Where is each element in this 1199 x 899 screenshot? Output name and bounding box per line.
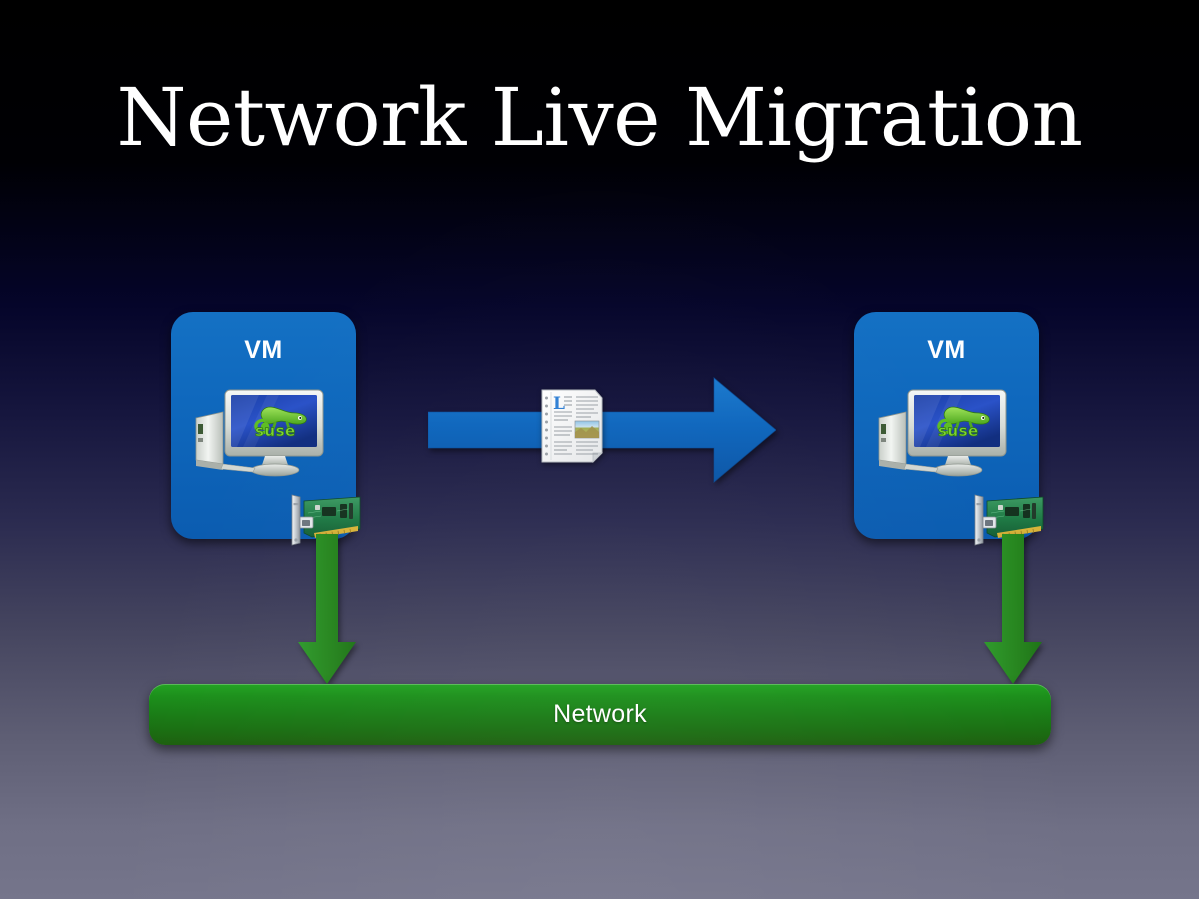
page-title: Network Live Migration: [0, 78, 1199, 158]
down-arrow-icon: [982, 534, 1044, 684]
document-icon: L: [541, 389, 603, 463]
vm-label: VM: [854, 336, 1039, 365]
suse-monitor-icon: suse: [876, 382, 1016, 478]
svg-text:L: L: [553, 394, 565, 414]
svg-text:suse: suse: [938, 422, 979, 440]
network-label: Network: [553, 700, 647, 729]
svg-text:suse: suse: [255, 422, 296, 440]
vm-box-destination[interactable]: VM suse: [854, 312, 1039, 539]
vm-box-source[interactable]: VM: [171, 312, 356, 539]
down-arrow-icon: [296, 534, 358, 684]
vm-label: VM: [171, 336, 356, 365]
slide-canvas: Network Live Migration VM: [0, 0, 1199, 899]
network-bar[interactable]: Network: [149, 684, 1051, 745]
suse-monitor-icon: suse: [193, 382, 333, 478]
